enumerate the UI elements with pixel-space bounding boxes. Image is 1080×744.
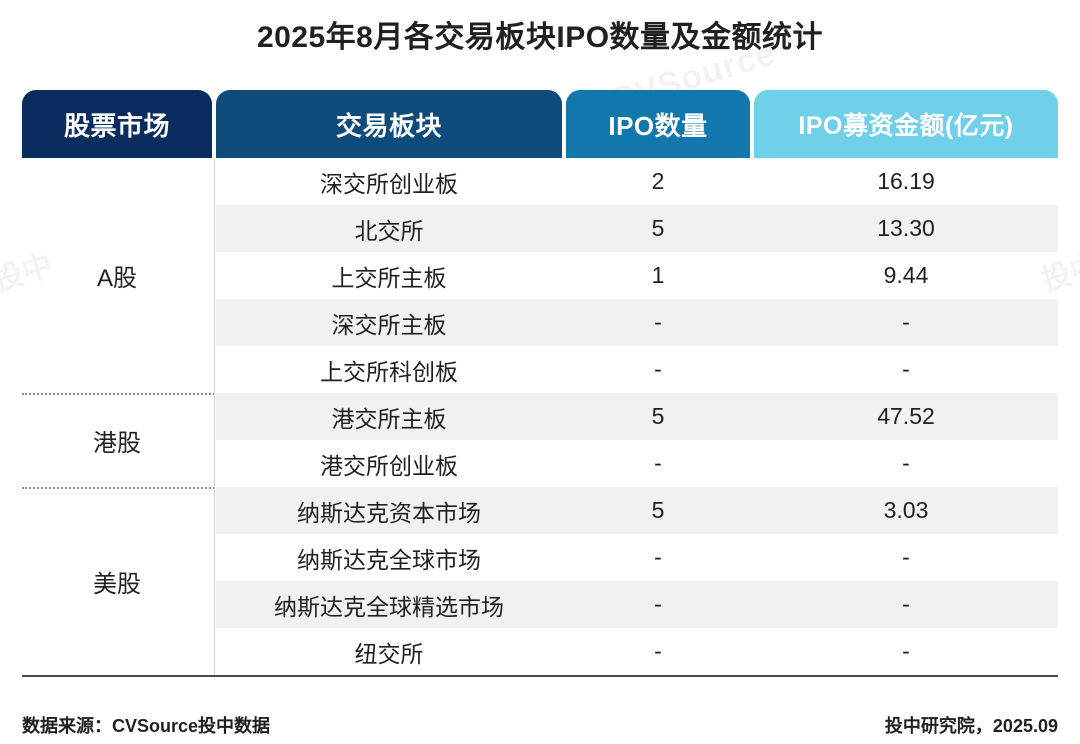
- column-header-ipo-amount: IPO募资金额(亿元): [754, 90, 1058, 158]
- column-divider: [214, 534, 215, 581]
- table-row: 纽交所--: [22, 628, 1058, 675]
- cell-ipo-count: -: [566, 346, 750, 393]
- table-row: 纳斯达克全球市场--: [22, 534, 1058, 581]
- column-header-ipo-count: IPO数量: [566, 90, 750, 158]
- cell-board: 上交所主板: [216, 252, 562, 299]
- table-row: 深交所主板--: [22, 299, 1058, 346]
- cell-ipo-amount: 16.19: [754, 158, 1058, 205]
- cell-board: 上交所科创板: [216, 346, 562, 393]
- cell-ipo-amount: -: [754, 628, 1058, 675]
- column-header-board: 交易板块: [216, 90, 562, 158]
- column-divider: [214, 252, 215, 299]
- cell-ipo-count: 5: [566, 205, 750, 252]
- column-divider: [214, 440, 215, 487]
- table-body: 深交所创业板216.19北交所513.30上交所主板19.44深交所主板--上交…: [22, 158, 1058, 675]
- chart-page: CVSource 投中 投中 2025年8月各交易板块IPO数量及金额统计 股票…: [0, 0, 1080, 744]
- cell-ipo-count: 5: [566, 393, 750, 440]
- cell-ipo-amount: 47.52: [754, 393, 1058, 440]
- cell-ipo-count: 5: [566, 487, 750, 534]
- cell-ipo-amount: -: [754, 440, 1058, 487]
- cell-ipo-amount: -: [754, 299, 1058, 346]
- column-divider: [214, 346, 215, 393]
- column-divider: [214, 205, 215, 252]
- cell-ipo-count: -: [566, 534, 750, 581]
- table-row: 港交所主板547.52: [22, 393, 1058, 440]
- cell-board: 纽交所: [216, 628, 562, 675]
- cell-board: 纳斯达克全球市场: [216, 534, 562, 581]
- column-divider: [214, 299, 215, 346]
- column-divider: [214, 581, 215, 628]
- table-row: 纳斯达克全球精选市场--: [22, 581, 1058, 628]
- page-title: 2025年8月各交易板块IPO数量及金额统计: [0, 12, 1080, 56]
- column-divider: [214, 158, 215, 205]
- table-row: 港交所创业板--: [22, 440, 1058, 487]
- cell-ipo-count: 1: [566, 252, 750, 299]
- cell-board: 深交所创业板: [216, 158, 562, 205]
- table-header-row: 股票市场 交易板块 IPO数量 IPO募资金额(亿元): [22, 90, 1058, 158]
- cell-board: 深交所主板: [216, 299, 562, 346]
- table-row: 纳斯达克资本市场53.03: [22, 487, 1058, 534]
- footer: 数据来源：CVSource投中数据 投中研究院，2025.09: [22, 712, 1058, 738]
- column-header-market: 股票市场: [22, 90, 212, 158]
- column-divider: [214, 487, 215, 534]
- cell-ipo-count: -: [566, 581, 750, 628]
- column-divider: [214, 628, 215, 675]
- cell-ipo-count: -: [566, 628, 750, 675]
- cell-board: 港交所主板: [216, 393, 562, 440]
- table-bottom-rule: [22, 675, 1058, 677]
- table-row: 上交所主板19.44: [22, 252, 1058, 299]
- cell-ipo-amount: 13.30: [754, 205, 1058, 252]
- cell-board: 港交所创业板: [216, 440, 562, 487]
- cell-ipo-count: -: [566, 440, 750, 487]
- cell-board: 纳斯达克资本市场: [216, 487, 562, 534]
- cell-ipo-amount: -: [754, 346, 1058, 393]
- table-row: 上交所科创板--: [22, 346, 1058, 393]
- cell-ipo-amount: 9.44: [754, 252, 1058, 299]
- column-divider: [214, 393, 215, 440]
- footer-credit: 投中研究院，2025.09: [885, 712, 1058, 738]
- table-row: 深交所创业板216.19: [22, 158, 1058, 205]
- table-row: 北交所513.30: [22, 205, 1058, 252]
- cell-board: 北交所: [216, 205, 562, 252]
- cell-ipo-amount: -: [754, 581, 1058, 628]
- cell-ipo-amount: 3.03: [754, 487, 1058, 534]
- cell-ipo-count: -: [566, 299, 750, 346]
- cell-board: 纳斯达克全球精选市场: [216, 581, 562, 628]
- footer-source: 数据来源：CVSource投中数据: [22, 712, 270, 738]
- cell-ipo-amount: -: [754, 534, 1058, 581]
- cell-ipo-count: 2: [566, 158, 750, 205]
